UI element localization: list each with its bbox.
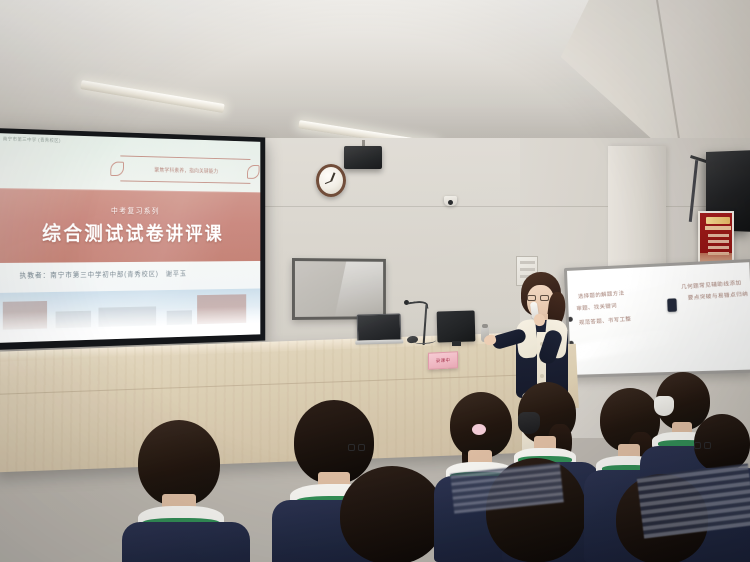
wall-clock <box>316 164 346 197</box>
desk-placard: 录课中 <box>428 351 458 370</box>
student <box>128 420 258 562</box>
whiteboard-magnet[interactable] <box>667 298 677 312</box>
projection-screen[interactable]: 南宁市第三中学 (青秀校区) 聚焦学科素养，指向关键能力 中考复习系列 综合测试… <box>0 128 265 350</box>
slide-title: 综合测试试卷讲评课 <box>42 218 224 247</box>
presentation-slide: 南宁市第三中学 (青秀校区) 聚焦学科素养，指向关键能力 中考复习系列 综合测试… <box>0 133 260 343</box>
slide-ribbon-text: 聚焦学科素养，指向关键能力 <box>154 165 218 174</box>
privacy-mosaic-patch <box>637 463 750 538</box>
glasses-icon <box>694 442 711 450</box>
whiteboard[interactable]: 选择题的解题方法 审题、找关键词 规范答题、书写工整 几何题常见辅助线添加 要点… <box>564 259 750 378</box>
laptop[interactable] <box>355 313 404 344</box>
poster-subheadline <box>705 226 731 230</box>
ceiling-speaker <box>344 146 382 169</box>
slide-presenter-line: 执教者：南宁市第三中学初中部(青秀校区) 谢平玉 <box>20 269 187 281</box>
desktop-monitor[interactable] <box>437 311 476 343</box>
glasses-icon <box>527 295 551 302</box>
monitor-stand <box>452 341 461 346</box>
illustration-fade <box>0 306 260 343</box>
glasses-icon <box>348 444 365 452</box>
slide-ribbon: 聚焦学科素养，指向关键能力 <box>120 155 251 184</box>
classroom-photo: 南宁市第三中学 (青秀校区) 聚焦学科素养，指向关键能力 中考复习系列 综合测试… <box>0 0 750 562</box>
notice-board-glare <box>332 258 386 320</box>
poster-headline <box>706 217 730 224</box>
hair-scrunchie <box>472 424 486 435</box>
desk-placard-text: 录课中 <box>436 357 451 364</box>
slide-subtitle: 中考复习系列 <box>111 206 160 217</box>
notice-board[interactable] <box>292 258 386 320</box>
student-uniform <box>122 522 250 562</box>
slide-title-band: 中考复习系列 综合测试试卷讲评课 <box>0 188 260 263</box>
face-mask <box>518 412 540 434</box>
student-head <box>340 466 444 562</box>
whiteboard-note: 要点突破与易错点归纳 <box>688 289 749 301</box>
slide-campus-illustration <box>0 288 260 343</box>
face-mask <box>654 396 674 416</box>
ceiling <box>0 0 750 150</box>
laptop-screen <box>357 313 402 341</box>
recording-camera-icon <box>444 196 457 206</box>
